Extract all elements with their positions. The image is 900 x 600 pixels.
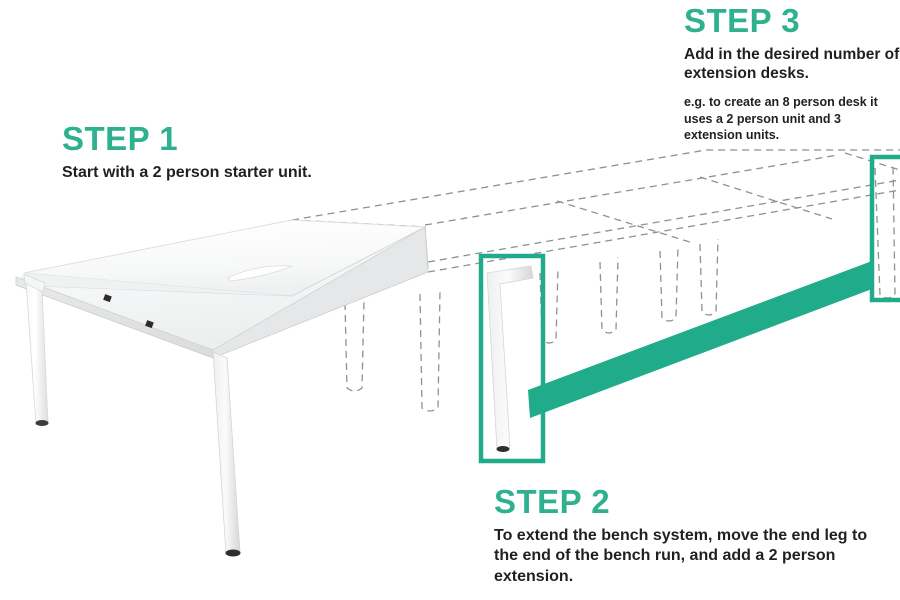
dashed-leg-6 bbox=[700, 239, 718, 315]
diagram-canvas: STEP 1 Start with a 2 person starter uni… bbox=[0, 0, 900, 600]
step-2-body: To extend the bench system, move the end… bbox=[494, 526, 894, 587]
step-2-title: STEP 2 bbox=[494, 485, 894, 520]
leg-end-right bbox=[487, 266, 533, 452]
step-3-title: STEP 3 bbox=[684, 4, 900, 39]
starter-desk bbox=[16, 220, 533, 557]
dashed-leg-4 bbox=[600, 257, 618, 333]
move-leg-arrow bbox=[528, 261, 872, 418]
step-3-block: STEP 3 Add in the desired number of exte… bbox=[684, 4, 900, 143]
dashed-leg-2 bbox=[420, 291, 440, 411]
step-1-body: Start with a 2 person starter unit. bbox=[62, 163, 392, 183]
step-3-body: Add in the desired number of extension d… bbox=[684, 45, 900, 85]
dashed-leg-5 bbox=[660, 246, 678, 321]
step-3-note: e.g. to create an 8 person desk it uses … bbox=[684, 94, 900, 143]
dashed-leg-1 bbox=[345, 300, 364, 391]
leg-front-right bbox=[213, 352, 241, 557]
step-2-block: STEP 2 To extend the bench system, move … bbox=[494, 485, 894, 587]
step-1-block: STEP 1 Start with a 2 person starter uni… bbox=[62, 122, 392, 183]
leg-front-left bbox=[24, 274, 49, 426]
step-1-title: STEP 1 bbox=[62, 122, 392, 157]
